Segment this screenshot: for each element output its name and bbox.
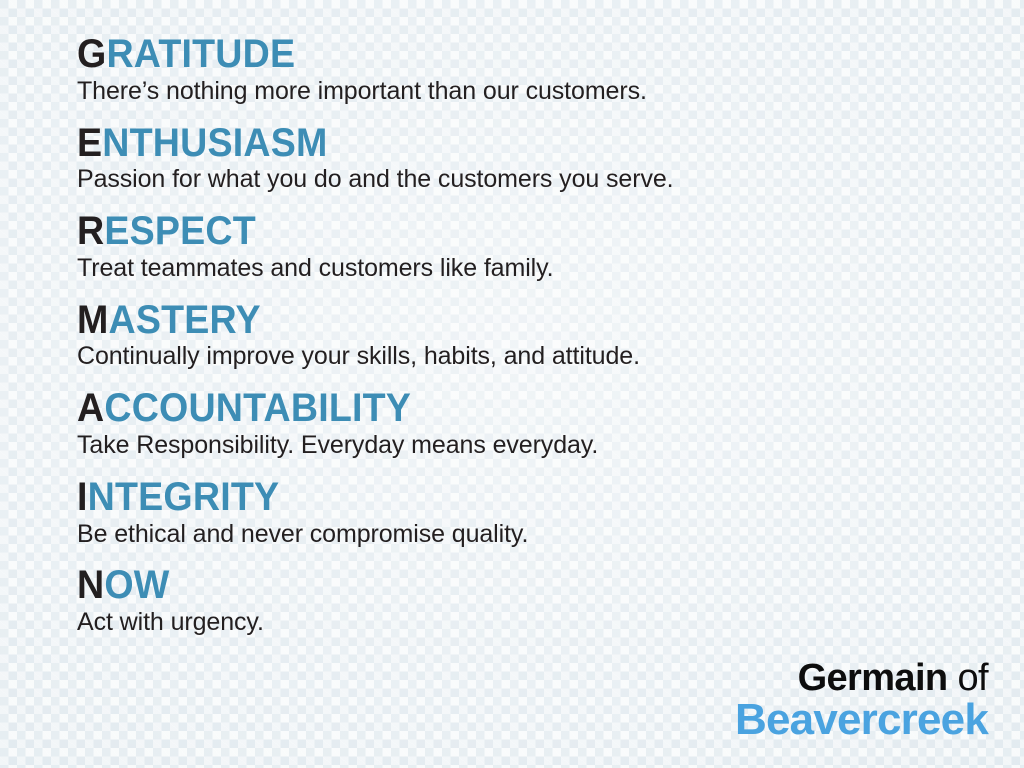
value-subtitle-respect: Treat teammates and customers like famil… [77, 254, 977, 283]
brand-logo-name: Germain [798, 657, 948, 699]
value-heading-remainder: RATITUDE [106, 32, 295, 76]
value-initial-letter: E [77, 121, 102, 165]
value-subtitle-integrity: Be ethical and never compromise quality. [77, 520, 977, 549]
value-initial-letter: M [77, 298, 109, 342]
value-block-now: NOW Act with urgency. [77, 565, 977, 637]
value-subtitle-now: Act with urgency. [77, 608, 977, 637]
value-initial-letter: R [77, 209, 104, 253]
value-initial-letter: I [77, 475, 88, 519]
value-initial-letter: A [77, 386, 104, 430]
value-heading-mastery: MASTERY [77, 300, 923, 341]
value-heading-remainder: ASTERY [109, 298, 261, 342]
value-block-accountability: ACCOUNTABILITY Take Responsibility. Ever… [77, 388, 977, 460]
value-heading-gratitude: GRATITUDE [77, 34, 923, 75]
values-poster: GRATITUDE There’s nothing more important… [0, 0, 1024, 768]
brand-logo-line-1: Germain of [735, 659, 988, 697]
value-subtitle-accountability: Take Responsibility. Everyday means ever… [77, 431, 977, 460]
value-heading-respect: RESPECT [77, 211, 923, 252]
value-initial-letter: N [77, 563, 104, 607]
value-block-gratitude: GRATITUDE There’s nothing more important… [77, 34, 977, 106]
value-subtitle-gratitude: There’s nothing more important than our … [77, 77, 977, 106]
value-heading-remainder: CCOUNTABILITY [104, 386, 411, 430]
brand-logo-location: Beavercreek [735, 698, 988, 742]
value-heading-remainder: OW [104, 563, 169, 607]
value-subtitle-enthusiasm: Passion for what you do and the customer… [77, 165, 977, 194]
brand-logo: Germain of Beavercreek [735, 659, 988, 742]
value-heading-remainder: NTEGRITY [88, 475, 280, 519]
core-values-list: GRATITUDE There’s nothing more important… [77, 34, 977, 654]
value-block-integrity: INTEGRITY Be ethical and never compromis… [77, 477, 977, 549]
value-heading-integrity: INTEGRITY [77, 477, 923, 518]
brand-logo-connector: of [948, 657, 988, 699]
value-heading-accountability: ACCOUNTABILITY [77, 388, 923, 429]
value-heading-enthusiasm: ENTHUSIASM [77, 123, 923, 164]
value-block-enthusiasm: ENTHUSIASM Passion for what you do and t… [77, 123, 977, 195]
value-heading-now: NOW [77, 565, 923, 606]
value-heading-remainder: NTHUSIASM [102, 121, 327, 165]
value-initial-letter: G [77, 32, 106, 76]
value-block-respect: RESPECT Treat teammates and customers li… [77, 211, 977, 283]
value-subtitle-mastery: Continually improve your skills, habits,… [77, 342, 977, 371]
value-heading-remainder: ESPECT [104, 209, 256, 253]
value-block-mastery: MASTERY Continually improve your skills,… [77, 300, 977, 372]
